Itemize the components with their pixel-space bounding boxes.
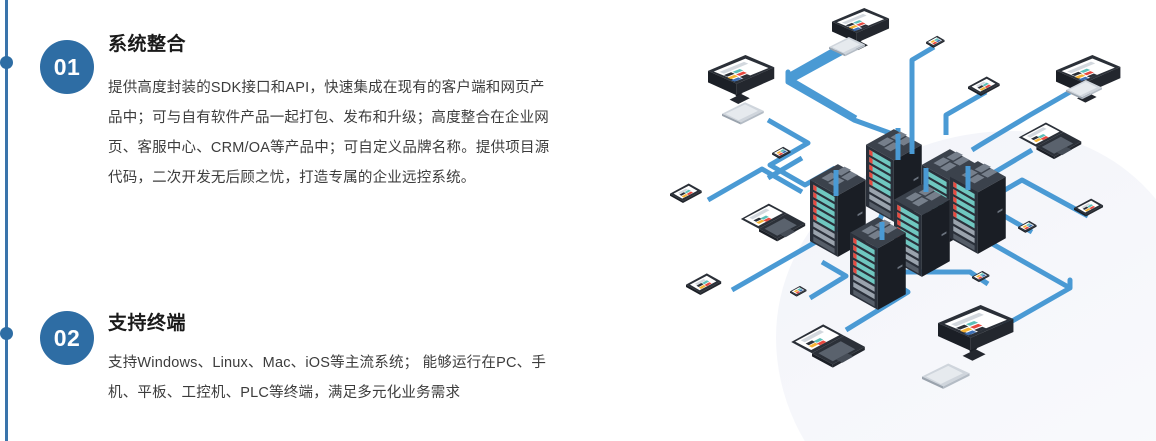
monitor-device: [938, 305, 1013, 361]
timeline: [0, 0, 14, 441]
laptop-device: [741, 204, 805, 242]
laptop-device: [791, 324, 865, 367]
tablet-device: [968, 77, 1000, 96]
timeline-dot-2: [0, 327, 13, 340]
phone-device: [926, 36, 945, 48]
monitor-device: [708, 55, 774, 104]
tablet-device: [670, 184, 702, 203]
feature-number-badge-2: 02: [40, 311, 94, 365]
keyboard-device: [922, 363, 970, 388]
tablet-device: [686, 273, 721, 295]
feature-text-2: 支持Windows、Linux、Mac、iOS等主流系统； 能够运行在PC、手机…: [108, 348, 556, 408]
feature-body-2: 支持终端 支持Windows、Linux、Mac、iOS等主流系统； 能够运行在…: [108, 313, 578, 408]
keyboard-device: [722, 102, 764, 124]
feature-title-2: 支持终端: [108, 313, 578, 336]
feature-section-page: 01 系统整合 提供高度封装的SDK接口和API，快速集成在现有的客户端和网页产…: [0, 0, 1156, 441]
phone-device: [790, 286, 807, 297]
phone-device: [1018, 221, 1037, 233]
tablet-device: [1074, 199, 1103, 217]
server-rack: [850, 217, 906, 310]
server-rack: [950, 161, 1006, 254]
feature-title-1: 系统整合: [108, 34, 578, 57]
timeline-dot-1: [0, 56, 13, 69]
feature-body-1: 系统整合 提供高度封装的SDK接口和API，快速集成在现有的客户端和网页产品中；…: [108, 34, 578, 193]
network-diagram-illustration: [650, 0, 1156, 441]
feature-number-badge-1: 01: [40, 40, 94, 94]
feature-text-1: 提供高度封装的SDK接口和API，快速集成在现有的客户端和网页产品中；可与自有软…: [108, 73, 556, 193]
